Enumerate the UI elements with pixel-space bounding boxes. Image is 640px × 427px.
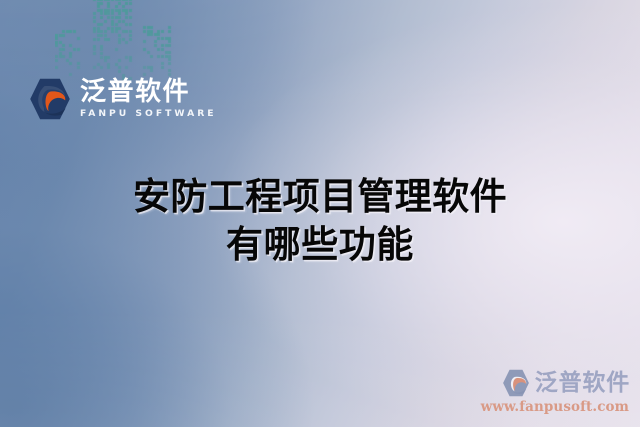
- headline-line-1: 安防工程项目管理软件: [0, 173, 640, 221]
- fanpu-wordmark: 泛普软件 FANPU SOFTWARE: [80, 79, 217, 118]
- watermark-website-url: www.fanpusoft.com: [481, 399, 629, 415]
- brand-name-cn: 泛普软件: [80, 79, 217, 105]
- pixel-square-pattern-decor: [55, 0, 173, 82]
- headline-line-2: 有哪些功能: [0, 221, 640, 269]
- footer-watermark: 泛普软件 www.fanpusoft.com: [481, 368, 630, 415]
- watermark-logo-row: 泛普软件: [501, 368, 630, 398]
- fanpu-logo: 泛普软件 FANPU SOFTWARE: [27, 76, 217, 122]
- promo-banner: 泛普软件 FANPU SOFTWARE 安防工程项目管理软件 有哪些功能 泛普软…: [0, 0, 640, 427]
- pixel-pattern-canvas: [55, 0, 173, 82]
- watermark-brand-name: 泛普软件: [535, 372, 630, 395]
- headline-block: 安防工程项目管理软件 有哪些功能: [0, 173, 640, 269]
- watermark-hexagon-logo-icon: [501, 368, 531, 398]
- brand-name-en: FANPU SOFTWARE: [80, 109, 217, 118]
- fanpu-hexagon-logo-icon: [27, 76, 73, 122]
